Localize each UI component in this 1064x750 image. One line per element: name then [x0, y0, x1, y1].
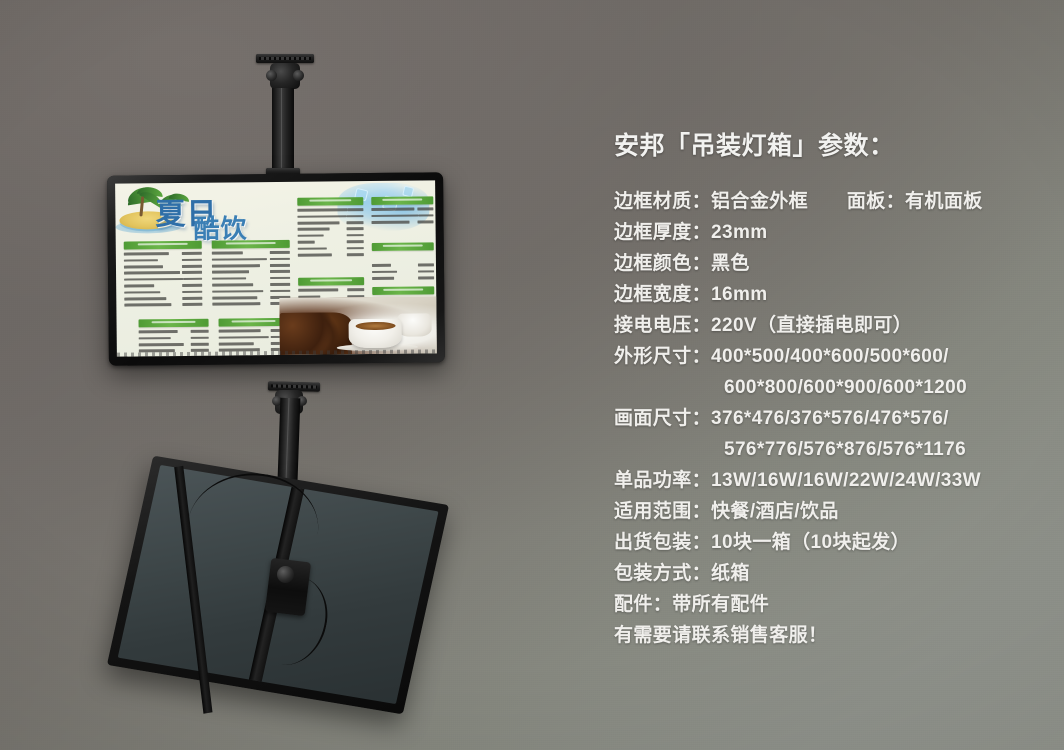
spec-label: 外形尺寸：	[614, 346, 711, 367]
spec-line: 边框宽度：16mm	[614, 279, 1064, 310]
spec-value: 400*500/400*600/500*600/	[711, 346, 949, 367]
category-band	[372, 286, 434, 295]
spec-value: 576*776/576*876/576*1176	[724, 439, 966, 460]
ceiling-hung-lightbox-product-photo: 夏日 酷饮	[0, 0, 600, 750]
menu-row	[298, 287, 364, 293]
mount-pole-upper	[272, 88, 294, 180]
menu-row	[124, 302, 202, 308]
spec-label: 边框宽度：	[614, 284, 711, 305]
plate-screw-holes	[259, 57, 310, 60]
menu-row	[219, 341, 289, 347]
menu-column-1	[124, 241, 203, 309]
menu-row	[371, 206, 433, 212]
menu-row	[297, 213, 363, 219]
menu-row	[219, 328, 289, 334]
menu-row	[298, 252, 364, 258]
spec-value: 16mm	[711, 284, 768, 305]
pole-seam	[281, 88, 282, 180]
category-band	[219, 318, 289, 327]
menu-column-5	[297, 197, 364, 259]
menu-row	[372, 275, 434, 281]
spec-label: 边框厚度：	[614, 222, 711, 243]
spec-line: 出货包装：10块一箱（10块起发）	[614, 527, 1064, 558]
knuckle-bolt-left-upper	[266, 70, 277, 81]
lightbox-upper: 夏日 酷饮	[107, 172, 445, 366]
spec-line-list: 边框材质：铝合金外框 面板：有机面板边框厚度：23mm边框颜色：黑色边框宽度：1…	[614, 186, 1064, 651]
menu-header-artwork: 夏日 酷饮	[115, 182, 301, 236]
menu-row	[124, 295, 202, 301]
menu-row	[371, 219, 433, 225]
menu-row	[212, 256, 290, 262]
spec-label: 边框材质：	[614, 191, 711, 212]
spec-label: 接电电压：	[614, 315, 711, 336]
spec-label: 单品功率：	[614, 470, 711, 491]
menu-row	[297, 207, 363, 213]
spec-line: 适用范围：快餐/酒店/饮品	[614, 496, 1064, 527]
coffee-cup-primary	[349, 318, 403, 348]
spec-label: 边框颜色：	[614, 253, 711, 274]
spec-label: 包装方式：	[614, 563, 711, 584]
spec-line: 接电电压：220V（直接插电即可）	[614, 310, 1064, 341]
spec-label: 适用范围：	[614, 501, 711, 522]
category-band	[297, 197, 363, 206]
spec-line: 配件：带所有配件	[614, 589, 1064, 620]
specification-panel: 安邦「吊装灯箱」参数： 边框材质：铝合金外框 面板：有机面板边框厚度：23mm边…	[600, 0, 1064, 750]
menu-row	[139, 341, 209, 347]
menu-column-7	[372, 242, 434, 282]
category-band	[371, 196, 433, 205]
ceiling-mount-plate-upper	[256, 54, 314, 63]
menu-row	[372, 269, 434, 275]
spec-value: 快餐/酒店/饮品	[711, 501, 839, 522]
menu-row	[298, 226, 364, 232]
coffee-photo	[280, 296, 437, 355]
menu-row	[139, 335, 209, 341]
menu-row	[212, 288, 290, 294]
menu-row	[124, 283, 202, 289]
knuckle-bolt-right-upper	[293, 70, 304, 81]
spec-value: 376*476/376*576/476*576/	[711, 408, 949, 429]
spec-line: 有需要请联系销售客服！	[614, 620, 1064, 651]
spec-label: 配件：	[614, 594, 672, 615]
spec-value: 10块一箱（10块起发）	[711, 532, 910, 553]
menu-row	[212, 263, 290, 269]
spec-value: 纸箱	[711, 563, 750, 584]
spec-value: 23mm	[711, 222, 768, 243]
menu-row	[212, 275, 290, 281]
spec-line: 边框颜色：黑色	[614, 248, 1064, 279]
spec-value: 黑色	[711, 253, 750, 274]
menu-row	[124, 257, 202, 263]
spec-label: 画面尺寸：	[614, 408, 711, 429]
spec-value: 带所有配件	[672, 594, 769, 615]
menu-row	[124, 276, 202, 282]
spec-line: 画面尺寸：376*476/376*576/476*576/	[614, 403, 1064, 434]
spec-value: 13W/16W/16W/22W/24W/33W	[711, 470, 981, 491]
bracket-bolt	[277, 566, 294, 583]
category-band	[298, 277, 364, 286]
spec-line: 外形尺寸：400*500/400*600/500*600/	[614, 341, 1064, 372]
menu-row	[124, 270, 202, 276]
spec-line: 单品功率：13W/16W/16W/22W/24W/33W	[614, 465, 1064, 496]
menu-row	[212, 250, 290, 256]
menu-lightbox-screen: 夏日 酷饮	[115, 180, 437, 356]
menu-row	[124, 289, 202, 295]
spec-label: 出货包装：	[614, 532, 711, 553]
spec-value: 铝合金外框 面板：有机面板	[711, 191, 983, 212]
spec-line: 边框材质：铝合金外框 面板：有机面板	[614, 186, 1064, 217]
coffee-cup-secondary	[397, 313, 432, 336]
spec-value: 有需要请联系销售客服！	[614, 625, 827, 646]
menu-row	[298, 233, 364, 239]
category-band	[124, 241, 202, 250]
coffee-liquid	[355, 321, 396, 330]
menu-row	[298, 245, 364, 251]
menu-row	[212, 269, 290, 275]
category-band	[139, 319, 209, 328]
spec-value: 220V（直接插电即可）	[711, 315, 912, 336]
spec-line: 576*776/576*876/576*1176	[614, 434, 1064, 465]
menu-row	[372, 262, 434, 268]
menu-row	[124, 264, 202, 270]
category-band	[372, 242, 434, 251]
menu-row	[371, 213, 433, 219]
menu-row	[139, 329, 209, 335]
spec-panel-title: 安邦「吊装灯箱」参数：	[614, 126, 1064, 162]
menu-column-6	[371, 196, 433, 226]
spec-line: 边框厚度：23mm	[614, 217, 1064, 248]
menu-row	[297, 220, 363, 226]
menu-row	[298, 239, 364, 245]
category-band	[212, 240, 290, 249]
spec-line: 包装方式：纸箱	[614, 558, 1064, 589]
spec-value: 600*800/600*900/600*1200	[724, 377, 967, 398]
menu-row	[212, 282, 290, 288]
spec-line: 600*800/600*900/600*1200	[614, 372, 1064, 403]
menu-row	[219, 334, 289, 340]
menu-row	[124, 251, 202, 257]
